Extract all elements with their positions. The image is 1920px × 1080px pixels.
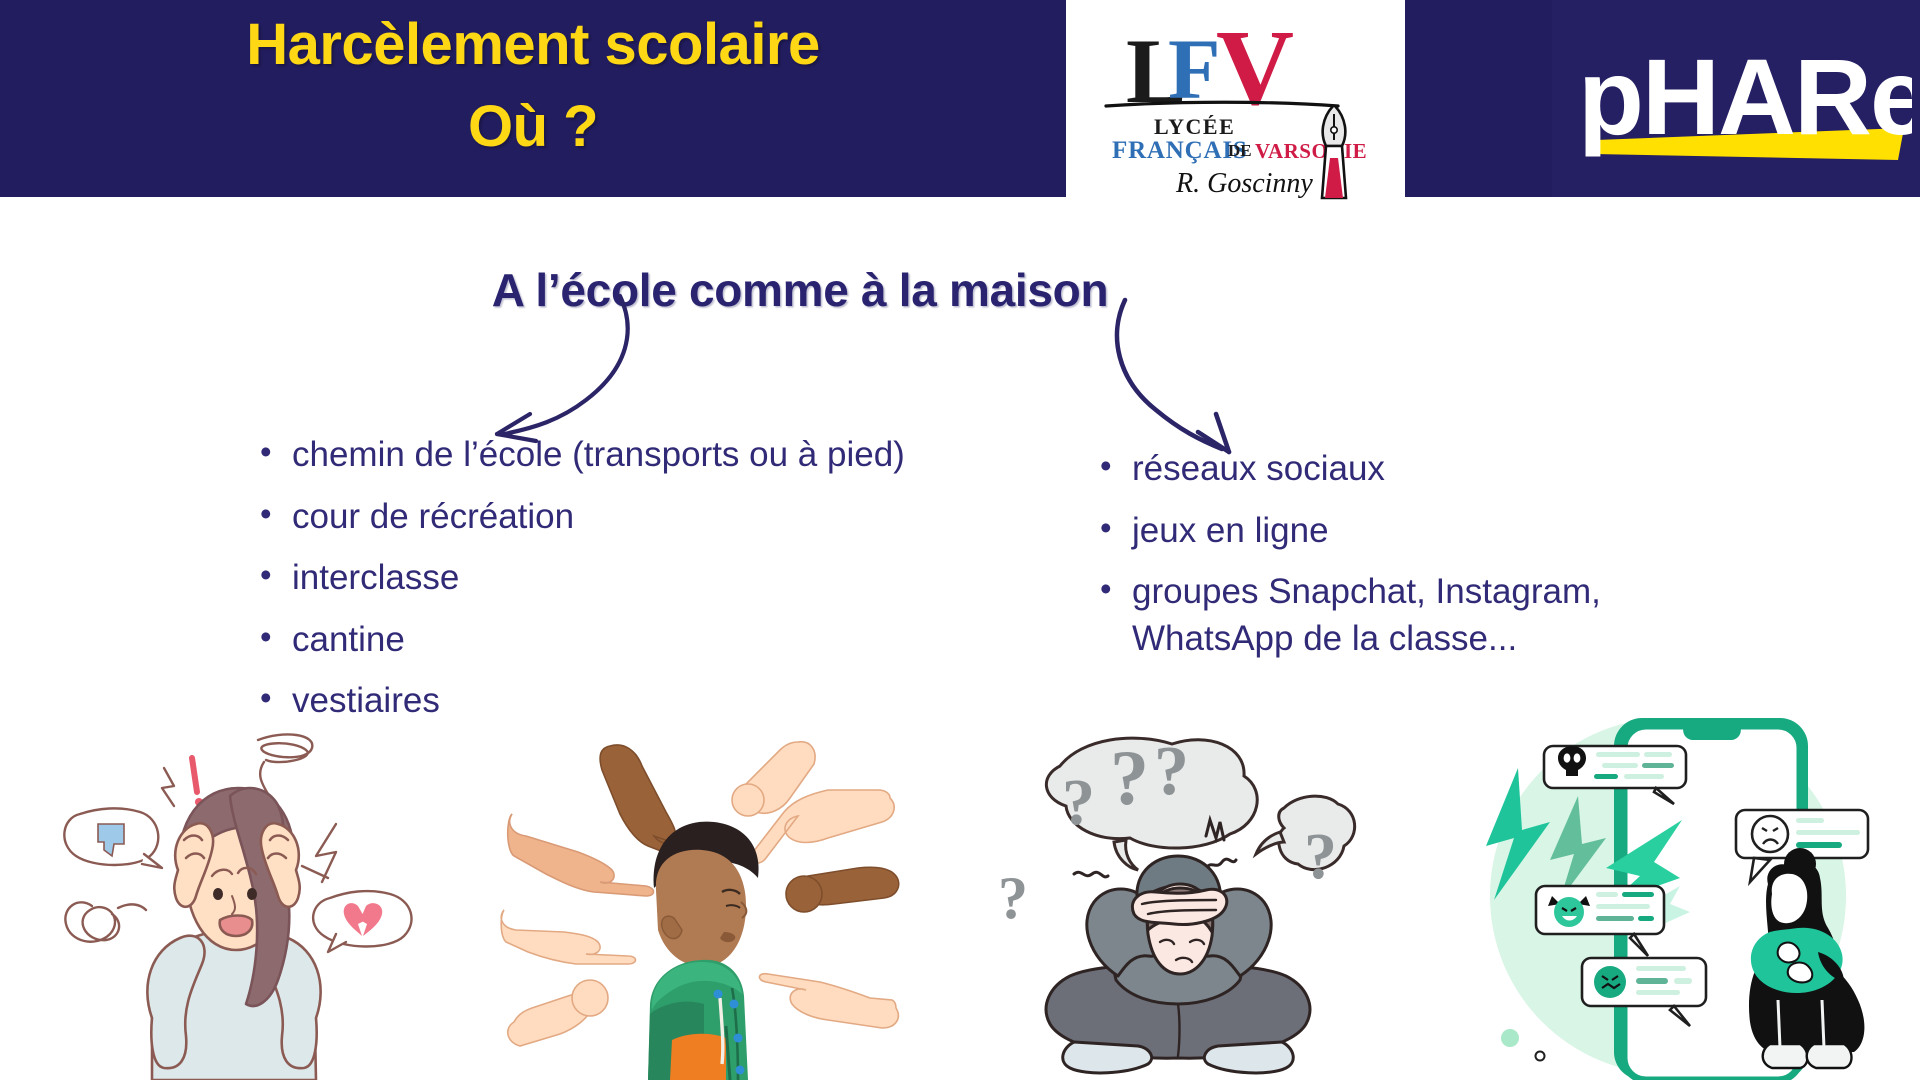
list-item: cour de récréation xyxy=(248,494,1048,541)
svg-text:?: ? xyxy=(1110,734,1149,821)
list-item: chemin de l’école (transports ou à pied) xyxy=(248,432,1048,479)
arrow-to-school-list xyxy=(497,296,628,441)
page-title-line-2: Où ? xyxy=(0,86,1066,168)
lfv-signature: R. Goscinny xyxy=(1175,168,1313,199)
illus-stressed-girl xyxy=(40,718,430,1080)
svg-text:?: ? xyxy=(998,865,1028,931)
phare-wordmark: pHARe xyxy=(1578,36,1912,157)
lfv-logo: L F V LYCÉE FRANÇAIS DE VARSOVIE R. Gosc… xyxy=(1090,6,1380,202)
section-subtitle: A l’école comme à la maison xyxy=(300,263,1300,317)
page-title-line-1: Harcèlement scolaire xyxy=(0,4,1066,86)
lfv-letter-v: V xyxy=(1216,9,1294,128)
list-school: chemin de l’école (transports ou à pied)… xyxy=(248,432,1048,740)
svg-text:?: ? xyxy=(1154,733,1189,810)
lfv-text-varsovie: VARSOVIE xyxy=(1255,139,1367,163)
arrow-to-home-list xyxy=(1117,300,1229,452)
list-item: interclasse xyxy=(248,555,1048,602)
lfv-text-de: DE xyxy=(1228,141,1252,160)
dot-large xyxy=(1501,1029,1519,1047)
svg-text:?: ? xyxy=(1062,766,1095,839)
list-home: réseaux sociaux jeux en ligne groupes Sn… xyxy=(1088,446,1728,677)
slide: Harcèlement scolaire Où ? L F V LYCÉE FR… xyxy=(0,0,1920,1080)
phare-logo: pHARe xyxy=(1560,22,1912,172)
illus-pointing-hands xyxy=(498,726,902,1080)
list-item: cantine xyxy=(248,617,1048,664)
dot-outline xyxy=(1536,1052,1545,1061)
illus-cyberbullying xyxy=(1478,700,1882,1080)
page-title: Harcèlement scolaire Où ? xyxy=(0,4,1066,169)
angry-face-icon xyxy=(1594,966,1626,998)
list-item: groupes Snapchat, Instagram, WhatsApp de… xyxy=(1088,569,1728,662)
list-item: réseaux sociaux xyxy=(1088,446,1728,493)
lfv-text-lycee: LYCÉE xyxy=(1154,114,1235,139)
svg-text:?: ? xyxy=(1304,820,1337,893)
list-item: jeux en ligne xyxy=(1088,508,1728,555)
sad-face-icon xyxy=(1752,816,1788,852)
illus-sitting-person: ? ? ? ? ? xyxy=(978,728,1382,1080)
pen-nib-icon xyxy=(1322,106,1346,198)
